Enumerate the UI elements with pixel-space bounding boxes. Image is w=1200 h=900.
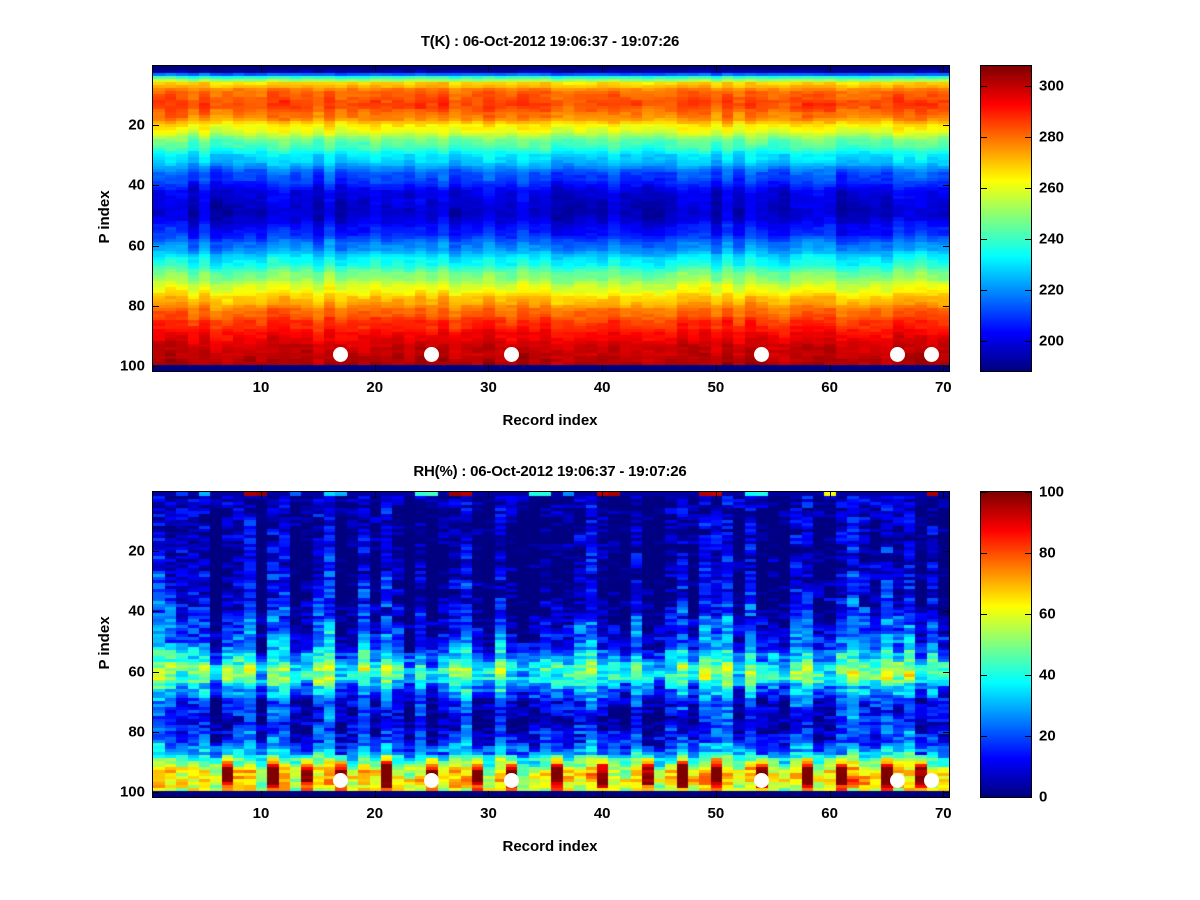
x-tick-mark [716, 492, 717, 498]
x-tick-mark [261, 492, 262, 498]
x-tick-mark [375, 791, 376, 797]
colorbar-tick-label: 280 [1039, 129, 1064, 146]
x-tick-label: 50 [708, 805, 725, 822]
flagged-record-marker [504, 773, 519, 788]
y-tick-mark [153, 185, 159, 186]
x-tick-label: 50 [708, 379, 725, 396]
colorbar-tick-label: 100 [1039, 484, 1064, 501]
colorbar-tick-label: 40 [1039, 667, 1056, 684]
x-tick-mark [943, 66, 944, 72]
x-tick-mark [488, 791, 489, 797]
x-tick-mark [830, 492, 831, 498]
y-tick-mark [153, 551, 159, 552]
x-tick-label: 60 [821, 805, 838, 822]
x-tick-label: 40 [594, 805, 611, 822]
y-tick-label: 100 [120, 358, 145, 375]
colorbar-tick-mark [1025, 553, 1031, 554]
colorbar-tick-mark [1025, 239, 1031, 240]
colorbar-tick-mark [981, 675, 987, 676]
y-tick-mark [943, 185, 949, 186]
y-tick-mark [943, 125, 949, 126]
y-tick-mark [943, 732, 949, 733]
flagged-record-marker [333, 773, 348, 788]
x-tick-mark [830, 791, 831, 797]
colorbar-tick-mark [1025, 736, 1031, 737]
colorbar-tick-mark [981, 86, 987, 87]
temperature-plot-title: T(K) : 06-Oct-2012 19:06:37 - 19:07:26 [152, 33, 948, 50]
colorbar-tick-mark [981, 341, 987, 342]
x-tick-mark [830, 66, 831, 72]
humidity-colorbar[interactable] [980, 491, 1032, 798]
y-tick-label: 80 [128, 724, 145, 741]
x-tick-mark [375, 365, 376, 371]
panel-relative-humidity: RH(%) : 06-Oct-2012 19:06:37 - 19:07:26 … [0, 450, 1200, 900]
y-tick-label: 100 [120, 784, 145, 801]
colorbar-tick-label: 240 [1039, 230, 1064, 247]
y-tick-mark [943, 611, 949, 612]
y-tick-mark [943, 551, 949, 552]
colorbar-tick-mark [981, 736, 987, 737]
y-tick-label: 40 [128, 177, 145, 194]
colorbar-tick-mark [1025, 675, 1031, 676]
humidity-xaxis-label: Record index [502, 838, 597, 855]
flagged-record-marker [754, 347, 769, 362]
x-tick-label: 30 [480, 379, 497, 396]
x-tick-mark [261, 791, 262, 797]
y-tick-mark [153, 246, 159, 247]
y-tick-mark [153, 125, 159, 126]
x-tick-mark [602, 492, 603, 498]
colorbar-tick-label: 80 [1039, 545, 1056, 562]
y-tick-mark [943, 306, 949, 307]
x-tick-label: 30 [480, 805, 497, 822]
x-tick-mark [488, 66, 489, 72]
x-tick-mark [375, 66, 376, 72]
x-tick-label: 20 [366, 379, 383, 396]
colorbar-tick-mark [1025, 797, 1031, 798]
flagged-record-marker [890, 773, 905, 788]
x-tick-label: 10 [253, 379, 270, 396]
y-tick-mark [943, 366, 949, 367]
colorbar-tick-mark [1025, 137, 1031, 138]
y-tick-mark [153, 611, 159, 612]
x-tick-label: 70 [935, 379, 952, 396]
colorbar-tick-label: 220 [1039, 281, 1064, 298]
x-tick-label: 20 [366, 805, 383, 822]
y-tick-label: 40 [128, 603, 145, 620]
colorbar-tick-mark [981, 239, 987, 240]
x-tick-mark [602, 791, 603, 797]
x-tick-mark [488, 492, 489, 498]
colorbar-tick-mark [981, 188, 987, 189]
figure-canvas: T(K) : 06-Oct-2012 19:06:37 - 19:07:26 1… [0, 0, 1200, 900]
x-tick-mark [602, 365, 603, 371]
flagged-record-marker [754, 773, 769, 788]
y-tick-mark [153, 306, 159, 307]
x-tick-mark [261, 365, 262, 371]
y-tick-label: 60 [128, 663, 145, 680]
x-tick-mark [261, 66, 262, 72]
temperature-colorbar-gradient [981, 66, 1031, 371]
x-tick-mark [716, 791, 717, 797]
colorbar-tick-label: 260 [1039, 180, 1064, 197]
temperature-heatmap-axes[interactable] [152, 65, 950, 372]
y-tick-label: 20 [128, 116, 145, 133]
y-tick-label: 80 [128, 298, 145, 315]
x-tick-mark [602, 66, 603, 72]
flagged-record-marker [333, 347, 348, 362]
x-tick-label: 10 [253, 805, 270, 822]
colorbar-tick-label: 20 [1039, 728, 1056, 745]
flagged-record-marker [924, 347, 939, 362]
y-tick-mark [153, 792, 159, 793]
flagged-record-marker [504, 347, 519, 362]
temperature-yaxis-label: P index [96, 190, 113, 243]
colorbar-tick-mark [1025, 341, 1031, 342]
x-tick-mark [716, 365, 717, 371]
colorbar-tick-mark [1025, 614, 1031, 615]
y-tick-label: 20 [128, 542, 145, 559]
flagged-record-marker [424, 347, 439, 362]
colorbar-tick-mark [1025, 188, 1031, 189]
x-tick-mark [830, 365, 831, 371]
colorbar-tick-mark [981, 553, 987, 554]
humidity-yaxis-label: P index [96, 616, 113, 669]
flagged-record-marker [424, 773, 439, 788]
colorbar-tick-mark [981, 290, 987, 291]
x-tick-mark [375, 492, 376, 498]
flagged-record-marker [890, 347, 905, 362]
temperature-marker-layer [153, 66, 949, 371]
humidity-heatmap-axes[interactable] [152, 491, 950, 798]
x-tick-label: 70 [935, 805, 952, 822]
x-tick-mark [716, 66, 717, 72]
colorbar-tick-mark [981, 614, 987, 615]
colorbar-tick-mark [1025, 290, 1031, 291]
panel-temperature: T(K) : 06-Oct-2012 19:06:37 - 19:07:26 1… [0, 0, 1200, 450]
humidity-plot-title: RH(%) : 06-Oct-2012 19:06:37 - 19:07:26 [152, 463, 948, 480]
x-tick-label: 60 [821, 379, 838, 396]
colorbar-tick-label: 300 [1039, 78, 1064, 95]
x-tick-mark [488, 365, 489, 371]
temperature-xaxis-label: Record index [502, 412, 597, 429]
colorbar-tick-label: 0 [1039, 789, 1047, 806]
y-tick-mark [153, 732, 159, 733]
colorbar-tick-label: 60 [1039, 606, 1056, 623]
colorbar-tick-label: 200 [1039, 332, 1064, 349]
y-tick-mark [943, 792, 949, 793]
x-tick-mark [943, 492, 944, 498]
colorbar-tick-mark [981, 137, 987, 138]
colorbar-tick-mark [1025, 492, 1031, 493]
humidity-colorbar-gradient [981, 492, 1031, 797]
flagged-record-marker [924, 773, 939, 788]
y-tick-mark [153, 366, 159, 367]
temperature-colorbar[interactable] [980, 65, 1032, 372]
colorbar-tick-mark [981, 492, 987, 493]
y-tick-label: 60 [128, 237, 145, 254]
humidity-marker-layer [153, 492, 949, 797]
y-tick-mark [943, 672, 949, 673]
colorbar-tick-mark [1025, 86, 1031, 87]
x-tick-label: 40 [594, 379, 611, 396]
y-tick-mark [943, 246, 949, 247]
y-tick-mark [153, 672, 159, 673]
colorbar-tick-mark [981, 797, 987, 798]
